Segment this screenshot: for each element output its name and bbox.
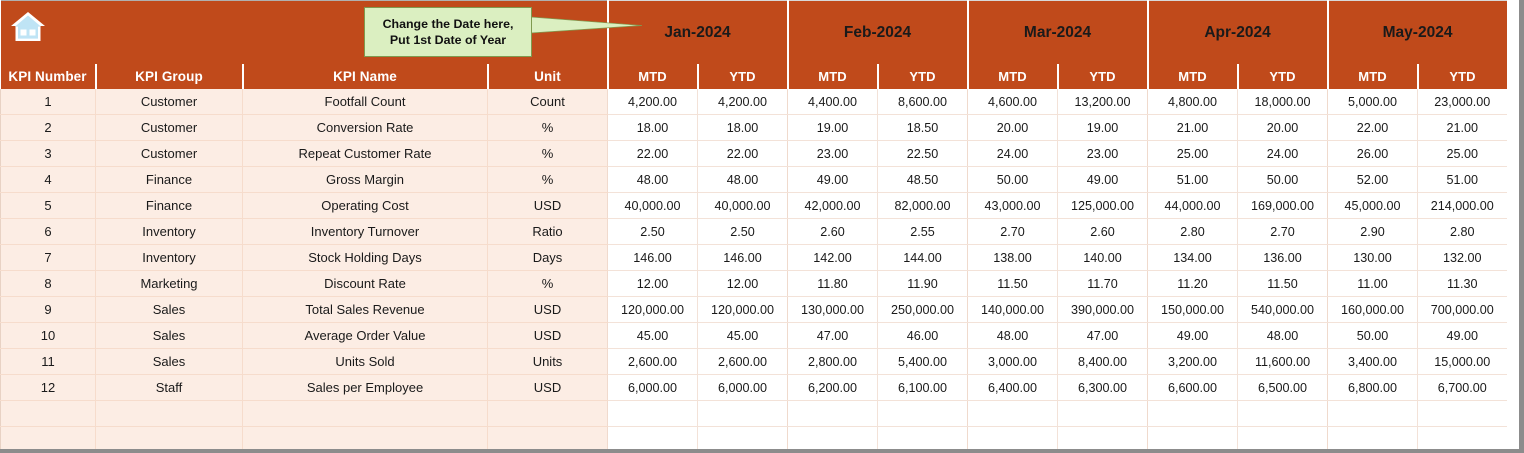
cell-feb-ytd[interactable]: 5,400.00 (878, 349, 968, 375)
cell-unit[interactable] (488, 401, 608, 427)
callout-line-1: Change the Date here, (383, 16, 514, 32)
cell-feb-mtd[interactable]: 2.60 (788, 219, 878, 245)
cell-kpi-group[interactable]: Inventory (96, 245, 243, 271)
cell-apr-ytd[interactable]: 24.00 (1238, 141, 1328, 167)
cell-kpi-group[interactable]: Finance (96, 167, 243, 193)
cell-unit[interactable]: Units (488, 349, 608, 375)
cell-may-mtd[interactable]: 3,400.00 (1328, 349, 1418, 375)
table-row: 5FinanceOperating CostUSD40,000.0040,000… (1, 193, 1507, 219)
table-row: 10SalesAverage Order ValueUSD45.0045.004… (1, 323, 1507, 349)
cell-kpi-group[interactable]: Inventory (96, 219, 243, 245)
table-row: 12StaffSales per EmployeeUSD6,000.006,00… (1, 375, 1507, 401)
cell-may-mtd[interactable]: 130.00 (1328, 245, 1418, 271)
cell-may-ytd[interactable] (1418, 401, 1507, 427)
cell-may-ytd[interactable]: 25.00 (1418, 141, 1507, 167)
cell-feb-ytd[interactable]: 18.50 (878, 115, 968, 141)
cell-apr-mtd[interactable]: 4,800.00 (1148, 89, 1238, 115)
cell-feb-mtd[interactable]: 6,200.00 (788, 375, 878, 401)
cell-mar-mtd[interactable]: 4,600.00 (968, 89, 1058, 115)
cell-jan-ytd[interactable]: 45.00 (698, 323, 788, 349)
cell-kpi-name[interactable]: Gross Margin (243, 167, 488, 193)
cell-jan-mtd[interactable]: 2,600.00 (608, 349, 698, 375)
cell-feb-mtd[interactable]: 42,000.00 (788, 193, 878, 219)
callout-line-2: Put 1st Date of Year (390, 32, 506, 48)
cell-unit[interactable]: Days (488, 245, 608, 271)
cell-mar-ytd[interactable]: 390,000.00 (1058, 297, 1148, 323)
cell-jan-ytd[interactable]: 4,200.00 (698, 89, 788, 115)
cell-jan-mtd[interactable]: 2.50 (608, 219, 698, 245)
col-header-jan-ytd[interactable]: YTD (698, 64, 788, 89)
home-icon[interactable] (9, 9, 47, 45)
cell-jan-ytd[interactable] (698, 401, 788, 427)
cell-jan-ytd[interactable]: 6,000.00 (698, 375, 788, 401)
cell-may-ytd[interactable]: 11.30 (1418, 271, 1507, 297)
cell-kpi-number[interactable]: 11 (1, 349, 96, 375)
cell-mar-ytd[interactable]: 49.00 (1058, 167, 1148, 193)
callout-arrow-icon (531, 16, 642, 34)
cell-feb-mtd[interactable]: 142.00 (788, 245, 878, 271)
cell-kpi-name[interactable]: Units Sold (243, 349, 488, 375)
cell-feb-ytd[interactable]: 82,000.00 (878, 193, 968, 219)
column-header-row: KPI Number KPI Group KPI Name Unit MTD Y… (1, 64, 1507, 89)
cell-kpi-number[interactable]: 4 (1, 167, 96, 193)
cell-jan-ytd[interactable]: 48.00 (698, 167, 788, 193)
cell-kpi-group[interactable]: Customer (96, 115, 243, 141)
table-row: 6InventoryInventory TurnoverRatio2.502.5… (1, 219, 1507, 245)
cell-apr-ytd[interactable]: 2.70 (1238, 219, 1328, 245)
col-header-jan-mtd[interactable]: MTD (608, 64, 698, 89)
cell-may-mtd[interactable]: 22.00 (1328, 115, 1418, 141)
cell-apr-mtd[interactable]: 134.00 (1148, 245, 1238, 271)
cell-kpi-name[interactable]: Footfall Count (243, 89, 488, 115)
cell-feb-ytd[interactable]: 46.00 (878, 323, 968, 349)
col-header-apr-ytd[interactable]: YTD (1238, 64, 1328, 89)
cell-apr-mtd[interactable]: 44,000.00 (1148, 193, 1238, 219)
cell-jan-mtd[interactable]: 146.00 (608, 245, 698, 271)
cell-apr-ytd[interactable]: 48.00 (1238, 323, 1328, 349)
cell-feb-ytd[interactable] (878, 401, 968, 427)
cell-feb-ytd[interactable]: 2.55 (878, 219, 968, 245)
cell-may-mtd[interactable]: 6,800.00 (1328, 375, 1418, 401)
table-row: 1CustomerFootfall CountCount4,200.004,20… (1, 89, 1507, 115)
cell-may-ytd[interactable]: 700,000.00 (1418, 297, 1507, 323)
cell-feb-ytd[interactable]: 250,000.00 (878, 297, 968, 323)
cell-jan-ytd[interactable]: 120,000.00 (698, 297, 788, 323)
col-header-unit[interactable]: Unit (488, 64, 608, 89)
cell-feb-mtd[interactable] (788, 401, 878, 427)
cell-jan-mtd[interactable]: 12.00 (608, 271, 698, 297)
cell-unit[interactable]: % (488, 167, 608, 193)
window-right-edge (1519, 0, 1524, 453)
cell-jan-ytd[interactable]: 2,600.00 (698, 349, 788, 375)
cell-kpi-number[interactable]: 12 (1, 375, 96, 401)
cell-mar-mtd[interactable]: 11.50 (968, 271, 1058, 297)
cell-jan-mtd[interactable]: 40,000.00 (608, 193, 698, 219)
table-row: 3CustomerRepeat Customer Rate%22.0022.00… (1, 141, 1507, 167)
cell-jan-mtd[interactable]: 120,000.00 (608, 297, 698, 323)
cell-kpi-group[interactable]: Staff (96, 375, 243, 401)
month-header-may[interactable]: May-2024 (1328, 1, 1507, 65)
cell-jan-mtd[interactable]: 22.00 (608, 141, 698, 167)
callout-change-date[interactable]: Change the Date here, Put 1st Date of Ye… (364, 7, 532, 57)
cell-unit[interactable]: % (488, 271, 608, 297)
table-row: 8MarketingDiscount Rate%12.0012.0011.801… (1, 271, 1507, 297)
cell-apr-ytd[interactable]: 540,000.00 (1238, 297, 1328, 323)
cell-jan-ytd[interactable]: 12.00 (698, 271, 788, 297)
spreadsheet-kpi-dashboard: Jan-2024 Feb-2024 Mar-2024 Apr-2024 May-… (0, 0, 1524, 453)
cell-apr-ytd[interactable] (1238, 401, 1328, 427)
cell-jan-mtd[interactable] (608, 401, 698, 427)
cell-kpi-number[interactable]: 9 (1, 297, 96, 323)
cell-unit[interactable]: % (488, 141, 608, 167)
cell-mar-ytd[interactable]: 140.00 (1058, 245, 1148, 271)
cell-kpi-number[interactable]: 3 (1, 141, 96, 167)
cell-mar-mtd[interactable]: 48.00 (968, 323, 1058, 349)
cell-kpi-name[interactable]: Sales per Employee (243, 375, 488, 401)
window-bottom-edge (0, 449, 1524, 453)
cell-mar-ytd[interactable]: 125,000.00 (1058, 193, 1148, 219)
col-header-feb-ytd[interactable]: YTD (878, 64, 968, 89)
cell-apr-mtd[interactable]: 150,000.00 (1148, 297, 1238, 323)
cell-apr-ytd[interactable]: 169,000.00 (1238, 193, 1328, 219)
cell-feb-ytd[interactable]: 22.50 (878, 141, 968, 167)
cell-kpi-number[interactable]: 1 (1, 89, 96, 115)
col-header-feb-mtd[interactable]: MTD (788, 64, 878, 89)
cell-may-mtd[interactable] (1328, 401, 1418, 427)
cell-feb-ytd[interactable]: 144.00 (878, 245, 968, 271)
month-header-apr[interactable]: Apr-2024 (1148, 1, 1328, 65)
cell-unit[interactable]: USD (488, 193, 608, 219)
cell-kpi-number[interactable]: 2 (1, 115, 96, 141)
cell-feb-mtd[interactable]: 11.80 (788, 271, 878, 297)
cell-apr-mtd[interactable]: 2.80 (1148, 219, 1238, 245)
cell-unit[interactable]: USD (488, 297, 608, 323)
cell-apr-mtd[interactable] (1148, 401, 1238, 427)
cell-feb-ytd[interactable]: 8,600.00 (878, 89, 968, 115)
cell-kpi-group[interactable]: Marketing (96, 271, 243, 297)
cell-jan-mtd[interactable]: 6,000.00 (608, 375, 698, 401)
cell-feb-mtd[interactable]: 4,400.00 (788, 89, 878, 115)
cell-may-ytd[interactable]: 21.00 (1418, 115, 1507, 141)
cell-unit[interactable]: Ratio (488, 219, 608, 245)
cell-kpi-group[interactable]: Sales (96, 297, 243, 323)
cell-apr-ytd[interactable]: 18,000.00 (1238, 89, 1328, 115)
kpi-table: Jan-2024 Feb-2024 Mar-2024 Apr-2024 May-… (0, 0, 1507, 453)
table-row (1, 401, 1507, 427)
cell-unit[interactable]: % (488, 115, 608, 141)
col-header-mar-mtd[interactable]: MTD (968, 64, 1058, 89)
cell-jan-ytd[interactable]: 22.00 (698, 141, 788, 167)
cell-kpi-group[interactable]: Finance (96, 193, 243, 219)
col-header-mar-ytd[interactable]: YTD (1058, 64, 1148, 89)
cell-may-mtd[interactable]: 11.00 (1328, 271, 1418, 297)
cell-kpi-name[interactable]: Stock Holding Days (243, 245, 488, 271)
cell-mar-ytd[interactable]: 6,300.00 (1058, 375, 1148, 401)
cell-mar-mtd[interactable] (968, 401, 1058, 427)
cell-mar-mtd[interactable]: 50.00 (968, 167, 1058, 193)
cell-may-ytd[interactable]: 2.80 (1418, 219, 1507, 245)
cell-apr-ytd[interactable]: 50.00 (1238, 167, 1328, 193)
month-header-mar[interactable]: Mar-2024 (968, 1, 1148, 65)
cell-apr-ytd[interactable]: 11,600.00 (1238, 349, 1328, 375)
table-row: 9SalesTotal Sales RevenueUSD120,000.0012… (1, 297, 1507, 323)
table-row: 4FinanceGross Margin%48.0048.0049.0048.5… (1, 167, 1507, 193)
cell-apr-ytd[interactable]: 20.00 (1238, 115, 1328, 141)
cell-feb-ytd[interactable]: 6,100.00 (878, 375, 968, 401)
cell-mar-ytd[interactable] (1058, 401, 1148, 427)
cell-may-mtd[interactable]: 26.00 (1328, 141, 1418, 167)
cell-mar-mtd[interactable]: 2.70 (968, 219, 1058, 245)
cell-unit[interactable]: Count (488, 89, 608, 115)
banner-row: Jan-2024 Feb-2024 Mar-2024 Apr-2024 May-… (1, 1, 1507, 65)
cell-mar-mtd[interactable]: 6,400.00 (968, 375, 1058, 401)
cell-mar-ytd[interactable]: 19.00 (1058, 115, 1148, 141)
cell-apr-mtd[interactable]: 6,600.00 (1148, 375, 1238, 401)
col-header-kpi-group[interactable]: KPI Group (96, 64, 243, 89)
col-header-may-mtd[interactable]: MTD (1328, 64, 1418, 89)
cell-feb-mtd[interactable]: 23.00 (788, 141, 878, 167)
cell-kpi-name[interactable]: Inventory Turnover (243, 219, 488, 245)
cell-feb-ytd[interactable]: 48.50 (878, 167, 968, 193)
cell-unit[interactable]: USD (488, 375, 608, 401)
table-row: 7InventoryStock Holding DaysDays146.0014… (1, 245, 1507, 271)
cell-may-mtd[interactable]: 52.00 (1328, 167, 1418, 193)
cell-may-mtd[interactable]: 160,000.00 (1328, 297, 1418, 323)
cell-kpi-number[interactable]: 6 (1, 219, 96, 245)
cell-apr-mtd[interactable]: 21.00 (1148, 115, 1238, 141)
cell-mar-ytd[interactable]: 8,400.00 (1058, 349, 1148, 375)
cell-feb-mtd[interactable]: 2,800.00 (788, 349, 878, 375)
cell-may-mtd[interactable]: 5,000.00 (1328, 89, 1418, 115)
col-header-kpi-number[interactable]: KPI Number (1, 64, 96, 89)
cell-mar-ytd[interactable]: 11.70 (1058, 271, 1148, 297)
cell-may-ytd[interactable]: 15,000.00 (1418, 349, 1507, 375)
cell-may-ytd[interactable]: 6,700.00 (1418, 375, 1507, 401)
cell-jan-mtd[interactable]: 18.00 (608, 115, 698, 141)
cell-unit[interactable]: USD (488, 323, 608, 349)
cell-kpi-name[interactable]: Discount Rate (243, 271, 488, 297)
cell-apr-ytd[interactable]: 6,500.00 (1238, 375, 1328, 401)
cell-kpi-name[interactable]: Repeat Customer Rate (243, 141, 488, 167)
cell-may-mtd[interactable]: 50.00 (1328, 323, 1418, 349)
cell-kpi-number[interactable]: 7 (1, 245, 96, 271)
cell-kpi-number[interactable] (1, 401, 96, 427)
cell-may-ytd[interactable]: 49.00 (1418, 323, 1507, 349)
cell-feb-mtd[interactable]: 19.00 (788, 115, 878, 141)
cell-apr-mtd[interactable]: 3,200.00 (1148, 349, 1238, 375)
cell-apr-mtd[interactable]: 51.00 (1148, 167, 1238, 193)
col-header-kpi-name[interactable]: KPI Name (243, 64, 488, 89)
col-header-apr-mtd[interactable]: MTD (1148, 64, 1238, 89)
cell-feb-mtd[interactable]: 130,000.00 (788, 297, 878, 323)
cell-feb-ytd[interactable]: 11.90 (878, 271, 968, 297)
cell-kpi-name[interactable]: Conversion Rate (243, 115, 488, 141)
cell-apr-mtd[interactable]: 49.00 (1148, 323, 1238, 349)
cell-jan-mtd[interactable]: 45.00 (608, 323, 698, 349)
cell-mar-mtd[interactable]: 3,000.00 (968, 349, 1058, 375)
cell-feb-mtd[interactable]: 49.00 (788, 167, 878, 193)
cell-kpi-group[interactable] (96, 401, 243, 427)
cell-may-mtd[interactable]: 2.90 (1328, 219, 1418, 245)
cell-jan-ytd[interactable]: 146.00 (698, 245, 788, 271)
cell-mar-mtd[interactable]: 140,000.00 (968, 297, 1058, 323)
cell-may-mtd[interactable]: 45,000.00 (1328, 193, 1418, 219)
cell-kpi-name[interactable]: Operating Cost (243, 193, 488, 219)
cell-kpi-number[interactable]: 8 (1, 271, 96, 297)
cell-may-ytd[interactable]: 132.00 (1418, 245, 1507, 271)
cell-jan-mtd[interactable]: 4,200.00 (608, 89, 698, 115)
cell-kpi-group[interactable]: Sales (96, 349, 243, 375)
cell-jan-ytd[interactable]: 2.50 (698, 219, 788, 245)
cell-kpi-name[interactable] (243, 401, 488, 427)
cell-apr-ytd[interactable]: 11.50 (1238, 271, 1328, 297)
cell-kpi-name[interactable]: Average Order Value (243, 323, 488, 349)
cell-mar-mtd[interactable]: 138.00 (968, 245, 1058, 271)
cell-may-ytd[interactable]: 214,000.00 (1418, 193, 1507, 219)
cell-jan-ytd[interactable]: 40,000.00 (698, 193, 788, 219)
cell-jan-ytd[interactable]: 18.00 (698, 115, 788, 141)
cell-kpi-name[interactable]: Total Sales Revenue (243, 297, 488, 323)
cell-kpi-group[interactable]: Customer (96, 141, 243, 167)
cell-mar-ytd[interactable]: 13,200.00 (1058, 89, 1148, 115)
cell-mar-mtd[interactable]: 43,000.00 (968, 193, 1058, 219)
table-row: 2CustomerConversion Rate%18.0018.0019.00… (1, 115, 1507, 141)
cell-apr-ytd[interactable]: 136.00 (1238, 245, 1328, 271)
cell-may-ytd[interactable]: 51.00 (1418, 167, 1507, 193)
cell-jan-mtd[interactable]: 48.00 (608, 167, 698, 193)
cell-mar-mtd[interactable]: 20.00 (968, 115, 1058, 141)
cell-kpi-number[interactable]: 10 (1, 323, 96, 349)
col-header-may-ytd[interactable]: YTD (1418, 64, 1507, 89)
cell-mar-ytd[interactable]: 23.00 (1058, 141, 1148, 167)
cell-kpi-group[interactable]: Sales (96, 323, 243, 349)
cell-mar-mtd[interactable]: 24.00 (968, 141, 1058, 167)
cell-apr-mtd[interactable]: 11.20 (1148, 271, 1238, 297)
cell-mar-ytd[interactable]: 47.00 (1058, 323, 1148, 349)
cell-feb-mtd[interactable]: 47.00 (788, 323, 878, 349)
cell-mar-ytd[interactable]: 2.60 (1058, 219, 1148, 245)
cell-may-ytd[interactable]: 23,000.00 (1418, 89, 1507, 115)
table-row: 11SalesUnits SoldUnits2,600.002,600.002,… (1, 349, 1507, 375)
month-header-feb[interactable]: Feb-2024 (788, 1, 968, 65)
cell-kpi-group[interactable]: Customer (96, 89, 243, 115)
cell-kpi-number[interactable]: 5 (1, 193, 96, 219)
cell-apr-mtd[interactable]: 25.00 (1148, 141, 1238, 167)
